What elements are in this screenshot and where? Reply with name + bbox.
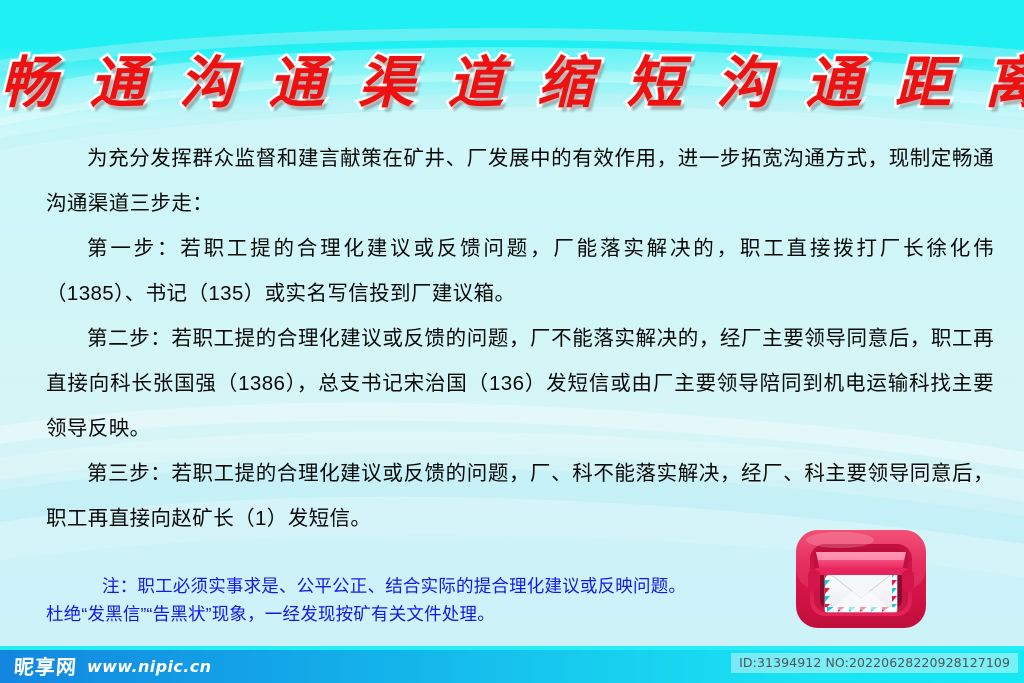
paragraph-step-one: 第一步：若职工提的合理化建议或反馈问题，厂能落实解决的，职工直接拨打厂长徐化伟（…	[46, 226, 994, 316]
note-block: 注：职工必须实事求是、公平公正、结合实际的提合理化建议或反映问题。 杜绝“发黑信…	[46, 572, 806, 628]
title-container: 畅 通 沟 通 渠 道 缩 短 沟 通 距 离	[0, 52, 1024, 114]
footer-watermark-bar: 昵享网 www.nipic.cn ID:31394912 NO:20220628…	[0, 650, 1024, 683]
poster-title: 畅 通 沟 通 渠 道 缩 短 沟 通 距 离	[0, 52, 1024, 114]
body-text-block: 为充分发挥群众监督和建言献策在矿井、厂发展中的有效作用，进一步拓宽沟通方式，现制…	[46, 136, 994, 541]
note-line-2: 杜绝“发黑信”“告黑状”现象，一经发现按矿有关文件处理。	[46, 600, 806, 628]
poster-canvas: 畅 通 沟 通 渠 道 缩 短 沟 通 距 离 为充分发挥群众监督和建言献策在矿…	[0, 0, 1024, 683]
note-line-1: 注：职工必须实事求是、公平公正、结合实际的提合理化建议或反映问题。	[46, 572, 806, 600]
site-url: www.nipic.cn	[87, 657, 211, 676]
site-logo: 昵享网	[13, 657, 77, 677]
paragraph-step-two: 第二步：若职工提的合理化建议或反馈的问题，厂不能落实解决的，经厂主要领导同意后，…	[46, 316, 994, 451]
paragraph-step-three: 第三步：若职工提的合理化建议或反馈的问题，厂、科不能落实解决，经厂、科主要领导同…	[46, 451, 994, 541]
paragraph-intro: 为充分发挥群众监督和建言献策在矿井、厂发展中的有效作用，进一步拓宽沟通方式，现制…	[46, 136, 994, 226]
image-id-label: ID:31394912 NO:20220628220928127109	[731, 653, 1018, 673]
